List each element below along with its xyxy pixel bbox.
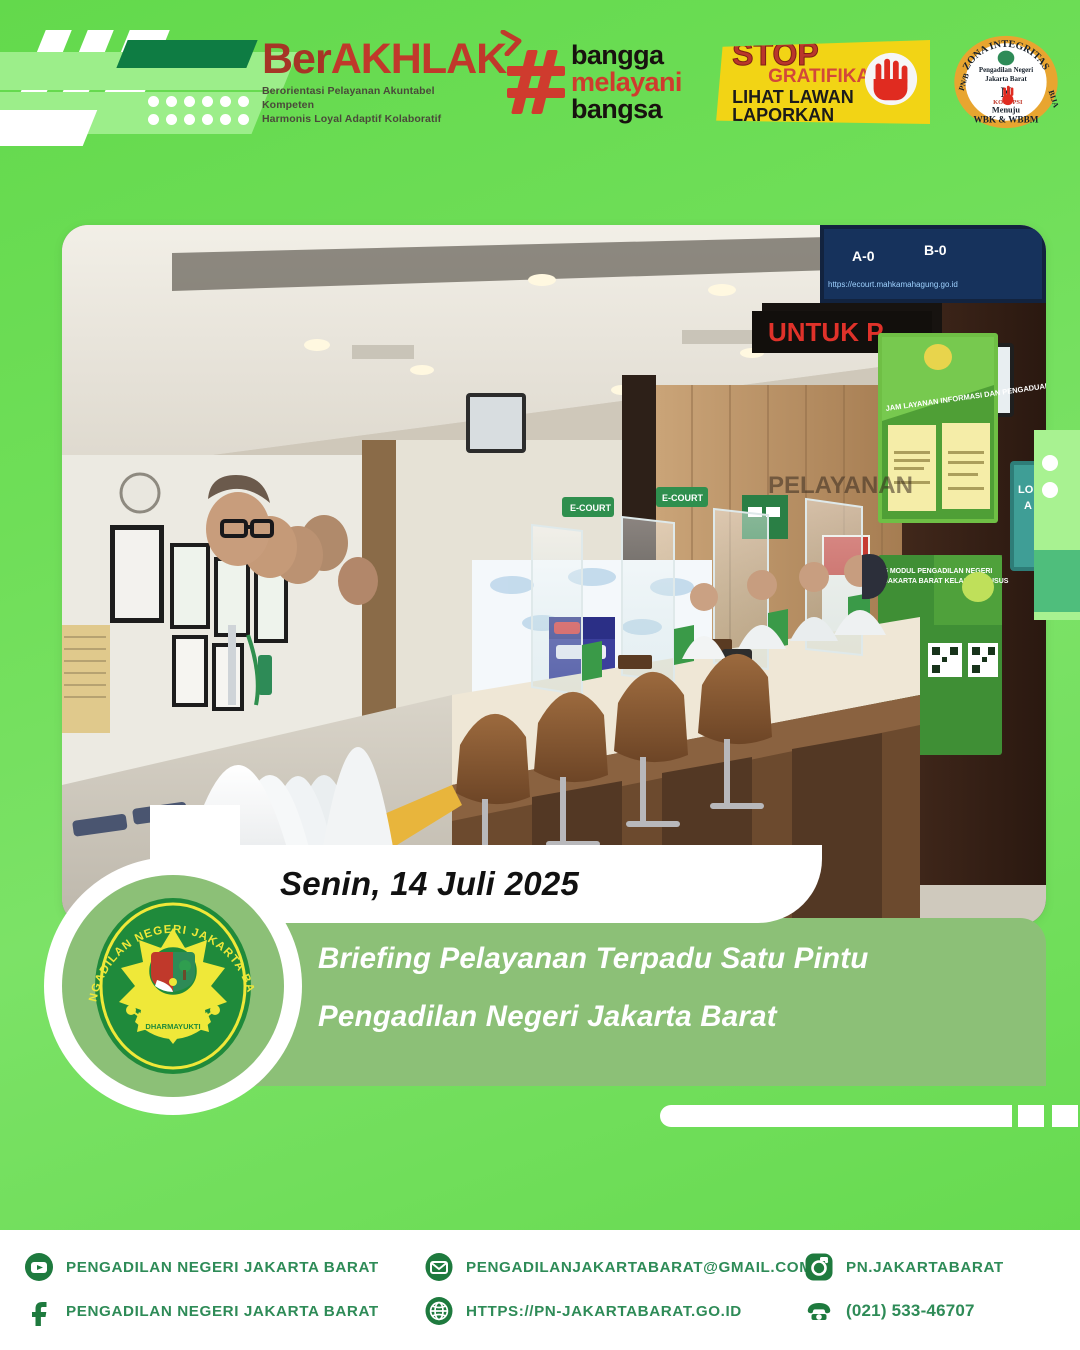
accent-white-square-1 bbox=[1018, 1105, 1044, 1127]
wall-clock bbox=[121, 474, 159, 512]
deco-slash-3 bbox=[94, 30, 170, 118]
event-date: Senin, 14 Juli 2025 bbox=[280, 865, 579, 903]
email-icon bbox=[424, 1252, 454, 1282]
zona-bottom-line1: Menuju bbox=[992, 105, 1021, 114]
event-title-line2: Pengadilan Negeri Jakarta Barat bbox=[318, 1002, 1046, 1032]
zona-institution-line2: Jakarta Barat bbox=[985, 76, 1027, 83]
deco-slash-2 bbox=[52, 30, 114, 118]
deco-band-light-2 bbox=[0, 92, 268, 134]
youtube-icon bbox=[24, 1252, 54, 1282]
seal-motto: DHARMAYUKTI bbox=[145, 1022, 200, 1031]
deco-slash-1 bbox=[10, 30, 72, 118]
poster-canvas: BerAKHLAK Berorientasi Pelayanan Akuntab… bbox=[0, 0, 1080, 1350]
queue-label-a: A-0 bbox=[852, 248, 875, 264]
court-seal: PENGADILAN NEGERI JAKARTA BARAT DHARMAYU… bbox=[62, 875, 284, 1097]
contact-youtube[interactable]: PENGADILAN NEGERI JAKARTA BARAT bbox=[24, 1252, 424, 1282]
svg-text:E-COURT: E-COURT bbox=[570, 503, 611, 513]
contact-email-label: PENGADILANJAKARTABARAT@GMAIL.COM bbox=[466, 1259, 812, 1276]
accent-white-bar bbox=[660, 1105, 1012, 1127]
contact-instagram-label: PN.JAKARTABARAT bbox=[846, 1259, 1004, 1276]
phone-icon bbox=[804, 1296, 834, 1326]
berakhlak-word-part2: AKHLAK bbox=[331, 35, 507, 83]
footer-row-1: PENGADILAN NEGERI JAKARTA BARAT PENGADIL… bbox=[24, 1252, 1004, 1282]
zona-institution-line1: Pengadilan Negeri bbox=[979, 67, 1033, 74]
contact-instagram[interactable]: PN.JAKARTABARAT bbox=[804, 1252, 1004, 1282]
contact-youtube-label: PENGADILAN NEGERI JAKARTA BARAT bbox=[66, 1259, 379, 1276]
court-seal-graphic: PENGADILAN NEGERI JAKARTA BARAT DHARMAYU… bbox=[73, 886, 273, 1086]
contact-email[interactable]: PENGADILANJAKARTABARAT@GMAIL.COM bbox=[424, 1252, 804, 1282]
berakhlak-wordmark: BerAKHLAK bbox=[262, 38, 506, 81]
stop-hand-icon bbox=[862, 50, 920, 108]
contact-phone-label: (021) 533-46707 bbox=[846, 1301, 975, 1321]
bangga-wordmark: bangga melayani bangsa bbox=[571, 42, 682, 123]
contact-facebook[interactable]: PENGADILAN NEGERI JAKARTA BARAT bbox=[24, 1296, 424, 1326]
logo-stop-gratifikasi: STOP GRATIFIKASI LIHAT LAWAN LAPORKAN bbox=[716, 40, 930, 124]
deco-slash-4 bbox=[0, 110, 97, 146]
berakhlak-subtitle-line1: Berorientasi Pelayanan Akuntabel Kompete… bbox=[262, 84, 487, 112]
side-accent-dark-band bbox=[1034, 550, 1080, 612]
zona-bottom-line2: WBK & WBBM bbox=[974, 115, 1039, 125]
contact-facebook-label: PENGADILAN NEGERI JAKARTA BARAT bbox=[66, 1303, 379, 1320]
pelayanan-wall-text: PELAYANAN bbox=[768, 472, 913, 499]
logo-zona-integritas: ZONA INTEGRITAS Pengadilan Negeri Jakart… bbox=[950, 34, 1062, 130]
led-running-text: UNTUK P bbox=[768, 317, 884, 347]
berakhlak-subtitle-line2: Harmonis Loyal Adaptif Kolaboratif bbox=[262, 112, 487, 126]
title-panel: Briefing Pelayanan Terpadu Satu Pintu Pe… bbox=[190, 918, 1046, 1066]
globe-icon bbox=[424, 1296, 454, 1326]
contact-website[interactable]: HTTPS://PN-JAKARTABARAT.GO.ID bbox=[424, 1296, 804, 1326]
logo-bangga-melayani-bangsa: bangga melayani bangsa bbox=[507, 42, 696, 123]
bangga-line1: bangga bbox=[571, 42, 682, 69]
ac-vent bbox=[62, 625, 110, 733]
queue-url: https://ecourt.mahkamahagung.go.id bbox=[828, 280, 958, 289]
footer-contact-bar: PENGADILAN NEGERI JAKARTA BARAT PENGADIL… bbox=[0, 1230, 1080, 1350]
logo-berakhlak: BerAKHLAK Berorientasi Pelayanan Akuntab… bbox=[262, 38, 487, 127]
facebook-icon bbox=[24, 1296, 54, 1326]
berakhlak-word-part1: Ber bbox=[262, 35, 331, 83]
side-accent-dots bbox=[1042, 455, 1058, 509]
instagram-icon bbox=[804, 1252, 834, 1282]
id-lanyard bbox=[258, 655, 272, 695]
zona-hand-icon bbox=[1002, 86, 1013, 105]
deco-band-dark bbox=[116, 40, 257, 68]
loket-sign-line2: A bbox=[1024, 500, 1032, 512]
contact-phone[interactable]: (021) 533-46707 bbox=[804, 1296, 975, 1326]
deco-dot-grid bbox=[148, 96, 249, 125]
footer-row-2: PENGADILAN NEGERI JAKARTA BARAT bbox=[24, 1296, 975, 1326]
queue-label-b: B-0 bbox=[924, 242, 947, 258]
bangga-line3: bangsa bbox=[571, 96, 682, 123]
contact-website-label: HTTPS://PN-JAKARTABARAT.GO.ID bbox=[466, 1303, 742, 1320]
svg-text:E-COURT: E-COURT bbox=[662, 493, 703, 503]
accent-white-square-2 bbox=[1052, 1105, 1078, 1127]
event-title-line1: Briefing Pelayanan Terpadu Satu Pintu bbox=[318, 944, 1046, 974]
title-panel-extension bbox=[190, 1066, 1046, 1086]
deco-band-light-1 bbox=[0, 52, 298, 90]
hashtag-icon bbox=[507, 50, 565, 114]
header-logo-row: BerAKHLAK Berorientasi Pelayanan Akuntab… bbox=[262, 28, 1062, 136]
bangga-line2: melayani bbox=[571, 69, 682, 96]
